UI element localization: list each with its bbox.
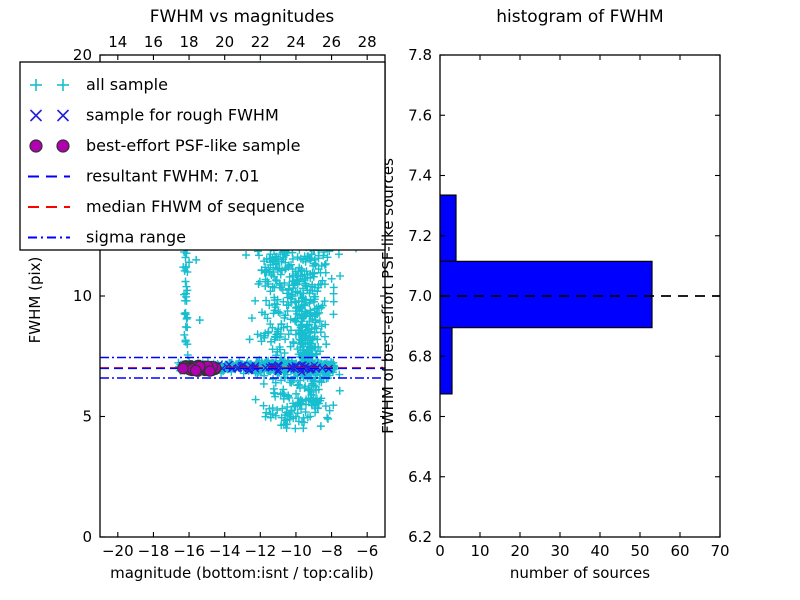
x-tick-label: 0 <box>435 542 445 560</box>
right-panel-ylabel: FWHM of best-effort PSF-like sources <box>379 158 397 434</box>
legend-marker <box>30 140 42 152</box>
x-tick-label: 50 <box>630 542 649 560</box>
legend-box <box>20 62 385 250</box>
x-tick-label: −10 <box>280 542 312 560</box>
y-tick-label: 7.4 <box>408 167 432 185</box>
right-panel-title: histogram of FWHM <box>496 7 663 27</box>
y-tick-label: 20 <box>73 46 92 64</box>
histogram-data-layer <box>440 195 720 394</box>
y-tick-label: 6.2 <box>408 528 432 546</box>
histogram-bars <box>440 195 652 394</box>
x-tick-label: 60 <box>670 542 689 560</box>
x-top-tick-label: 16 <box>144 33 163 51</box>
x-tick-label: 40 <box>590 542 609 560</box>
y-tick-label: 6.6 <box>408 408 432 426</box>
y-tick-label: 7.2 <box>408 227 432 245</box>
y-tick-label: 6.4 <box>408 468 432 486</box>
y-tick-label: 0 <box>82 528 92 546</box>
x-top-tick-label: 20 <box>215 33 234 51</box>
left-panel-xlabel: magnitude (bottom:isnt / top:calib) <box>110 564 374 582</box>
series-best-effort-psf-like-sample <box>178 360 221 376</box>
legend-label: resultant FWHM: 7.01 <box>86 167 260 186</box>
y-tick-label: 10 <box>73 287 92 305</box>
legend-label: all sample <box>86 75 168 94</box>
left-panel-ylabel: FWHM (pix) <box>26 257 44 344</box>
psf-sample-point <box>205 366 215 376</box>
x-top-tick-label: 24 <box>286 33 305 51</box>
x-tick-label: −12 <box>244 542 276 560</box>
figure-canvas: FWHM vs magnitudes −20−18−16−14−12−10−8−… <box>0 0 800 600</box>
x-top-tick-label: 18 <box>180 33 199 51</box>
x-top-tick-label: 26 <box>322 33 341 51</box>
x-tick-label: 20 <box>510 542 529 560</box>
right-panel-xlabel: number of sources <box>510 564 650 582</box>
x-tick-label: −8 <box>321 542 343 560</box>
x-tick-label: 70 <box>710 542 729 560</box>
x-tick-label: −20 <box>102 542 134 560</box>
right-panel-histogram: histogram of FWHM 010203040506070 6.26.4… <box>379 7 730 582</box>
y-tick-label: 7.8 <box>408 46 432 64</box>
y-tick-label: 5 <box>82 408 92 426</box>
left-panel-bottom-ticks: −20−18−16−14−12−10−8−6 <box>102 532 378 560</box>
x-tick-label: −16 <box>173 542 205 560</box>
x-tick-label: −6 <box>356 542 378 560</box>
left-panel-title: FWHM vs magnitudes <box>150 7 335 27</box>
histogram-bar <box>440 328 452 394</box>
legend: all samplesample for rough FWHMbest-effo… <box>20 62 385 250</box>
y-tick-label: 6.8 <box>408 347 432 365</box>
legend-label: sample for rough FWHM <box>86 106 279 125</box>
legend-label: sigma range <box>86 228 186 247</box>
x-top-tick-label: 28 <box>358 33 377 51</box>
histogram-bar <box>440 261 652 327</box>
psf-sample-point <box>178 363 188 373</box>
x-top-tick-label: 22 <box>251 33 270 51</box>
legend-label: best-effort PSF-like sample <box>86 136 300 155</box>
y-tick-label: 7.6 <box>408 106 432 124</box>
x-tick-label: −14 <box>209 542 241 560</box>
y-tick-label: 7.0 <box>408 287 432 305</box>
x-tick-label: −18 <box>138 542 170 560</box>
psf-sample-point <box>190 365 200 375</box>
histogram-bar <box>440 195 456 261</box>
matplotlib-figure: FWHM vs magnitudes −20−18−16−14−12−10−8−… <box>0 0 800 600</box>
x-tick-label: 10 <box>470 542 489 560</box>
x-tick-label: 30 <box>550 542 569 560</box>
left-panel-top-ticks: 1416182022242628 <box>108 33 376 60</box>
legend-label: median FHWM of sequence <box>86 197 305 216</box>
legend-marker <box>57 140 69 152</box>
x-top-tick-label: 14 <box>108 33 127 51</box>
